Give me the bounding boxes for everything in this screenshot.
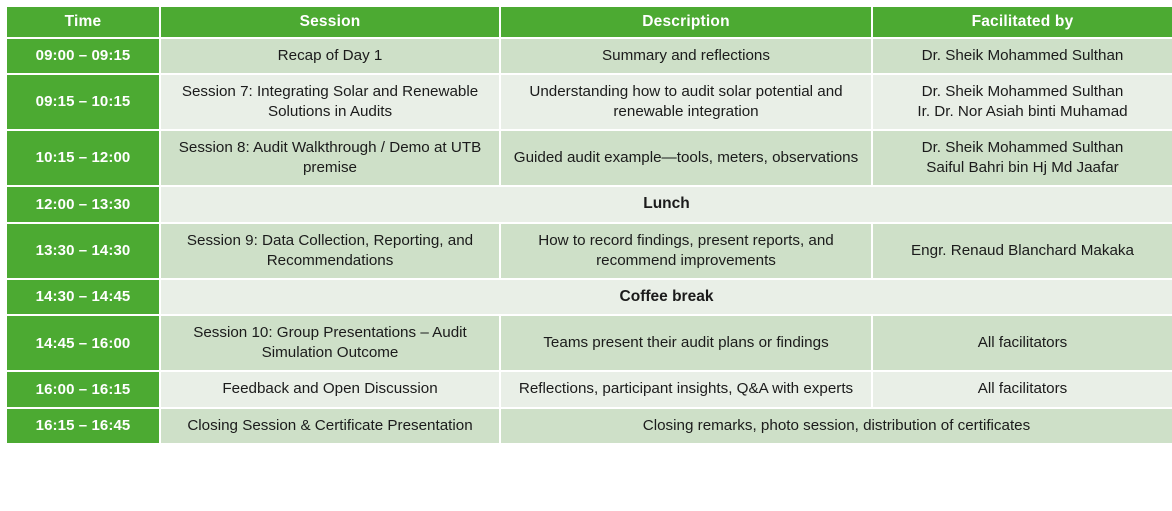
table-row: 13:30 – 14:30Session 9: Data Collection,…	[7, 224, 1172, 278]
table-body: 09:00 – 09:15Recap of Day 1Summary and r…	[7, 39, 1172, 443]
column-header-description: Description	[501, 7, 871, 37]
cell-session: Closing Session & Certificate Presentati…	[161, 409, 499, 443]
table-row: 09:00 – 09:15Recap of Day 1Summary and r…	[7, 39, 1172, 73]
cell-break-label: Coffee break	[161, 280, 1172, 314]
column-header-time: Time	[7, 7, 159, 37]
cell-session: Recap of Day 1	[161, 39, 499, 73]
cell-break-label: Lunch	[161, 187, 1172, 221]
table-row: 12:00 – 13:30Lunch	[7, 187, 1172, 221]
table-header: Time Session Description Facilitated by	[7, 7, 1172, 37]
table-row: 14:30 – 14:45Coffee break	[7, 280, 1172, 314]
table-row: 16:15 – 16:45Closing Session & Certifica…	[7, 409, 1172, 443]
cell-session: Feedback and Open Discussion	[161, 372, 499, 406]
schedule-sheet: Time Session Description Facilitated by …	[0, 0, 1172, 511]
cell-time: 09:00 – 09:15	[7, 39, 159, 73]
cell-description: Reflections, participant insights, Q&A w…	[501, 372, 871, 406]
cell-session: Session 9: Data Collection, Reporting, a…	[161, 224, 499, 278]
table-row: 10:15 – 12:00Session 8: Audit Walkthroug…	[7, 131, 1172, 185]
cell-facilitator: All facilitators	[873, 372, 1172, 406]
cell-facilitator: Dr. Sheik Mohammed Sulthan	[873, 39, 1172, 73]
cell-time: 16:00 – 16:15	[7, 372, 159, 406]
cell-time: 09:15 – 10:15	[7, 75, 159, 129]
cell-description: Closing remarks, photo session, distribu…	[501, 409, 1172, 443]
cell-facilitator: Engr. Renaud Blanchard Makaka	[873, 224, 1172, 278]
table-row: 09:15 – 10:15Session 7: Integrating Sola…	[7, 75, 1172, 129]
cell-time: 14:30 – 14:45	[7, 280, 159, 314]
cell-session: Session 8: Audit Walkthrough / Demo at U…	[161, 131, 499, 185]
cell-facilitator: All facilitators	[873, 316, 1172, 370]
table-row: 16:00 – 16:15Feedback and Open Discussio…	[7, 372, 1172, 406]
cell-facilitator: Dr. Sheik Mohammed SulthanSaiful Bahri b…	[873, 131, 1172, 185]
cell-time: 12:00 – 13:30	[7, 187, 159, 221]
cell-description: Guided audit example—tools, meters, obse…	[501, 131, 871, 185]
cell-facilitator: Dr. Sheik Mohammed SulthanIr. Dr. Nor As…	[873, 75, 1172, 129]
cell-description: Summary and reflections	[501, 39, 871, 73]
table-row: 14:45 – 16:00Session 10: Group Presentat…	[7, 316, 1172, 370]
cell-time: 14:45 – 16:00	[7, 316, 159, 370]
header-row: Time Session Description Facilitated by	[7, 7, 1172, 37]
cell-description: How to record findings, present reports,…	[501, 224, 871, 278]
column-header-session: Session	[161, 7, 499, 37]
cell-description: Teams present their audit plans or findi…	[501, 316, 871, 370]
cell-session: Session 10: Group Presentations – Audit …	[161, 316, 499, 370]
cell-time: 10:15 – 12:00	[7, 131, 159, 185]
column-header-facilitated-by: Facilitated by	[873, 7, 1172, 37]
cell-description: Understanding how to audit solar potenti…	[501, 75, 871, 129]
cell-time: 16:15 – 16:45	[7, 409, 159, 443]
cell-session: Session 7: Integrating Solar and Renewab…	[161, 75, 499, 129]
cell-time: 13:30 – 14:30	[7, 224, 159, 278]
agenda-table: Time Session Description Facilitated by …	[5, 5, 1172, 445]
